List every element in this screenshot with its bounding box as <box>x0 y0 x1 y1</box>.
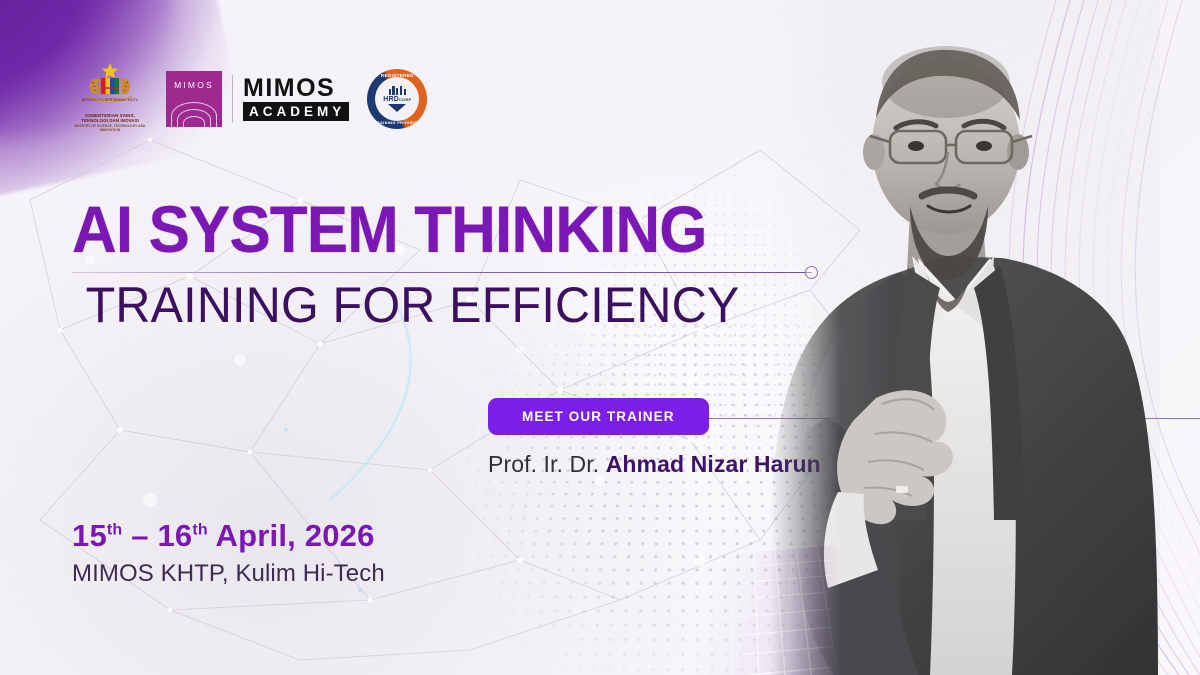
mimos-academy-logo: MIMOS MIMOS ACADEMY <box>166 71 349 127</box>
malaysia-coat-of-arms-icon: BERSEKUTU BERTAMBAH MUTU <box>79 60 141 112</box>
hrd-center-suffix: CORP <box>399 97 411 102</box>
ministry-line2: TEKNOLOGI DAN INOVASI <box>81 118 139 123</box>
hrd-corp-registered-seal: REGISTERED TRAINING PROVIDER HRDCORP <box>367 69 427 129</box>
mimos-word-top: MIMOS <box>243 77 349 101</box>
date-start: 15 <box>72 518 107 553</box>
ministry-line3: MINISTRY OF SCIENCE, TECHNOLOGY AND INNO… <box>68 124 152 132</box>
event-details-block: 15th – 16th April, 2026 MIMOS KHTP, Kuli… <box>72 518 385 588</box>
ministry-logo-text: KEMENTERIAN SAINS, TEKNOLOGI DAN INOVASI… <box>68 113 152 132</box>
headline-block: AI SYSTEM THINKING TRAINING FOR EFFICIEN… <box>72 196 832 332</box>
trainer-name-prefix: Prof. Ir. Dr. <box>488 451 606 477</box>
logo-divider <box>232 75 233 123</box>
mimos-arc-inner <box>183 116 205 127</box>
trainer-photo <box>770 0 1160 675</box>
event-date: 15th – 16th April, 2026 <box>72 518 385 554</box>
date-month-year: April, 2026 <box>208 518 375 553</box>
mimos-word-bottom: ACADEMY <box>243 102 349 121</box>
event-venue: MIMOS KHTP, Kulim Hi-Tech <box>72 560 385 588</box>
meet-our-trainer-badge: MEET OUR TRAINER <box>488 398 709 435</box>
page-subtitle: TRAINING FOR EFFICIENCY <box>72 279 809 332</box>
mimos-mark-text: MIMOS <box>174 80 214 90</box>
ministry-logo: BERSEKUTU BERTAMBAH MUTU KEMENTERIAN SAI… <box>72 60 148 138</box>
date-end: 16 <box>157 518 192 553</box>
date-end-ordinal: th <box>192 522 208 539</box>
hrd-bottom-text: TRAINING PROVIDER <box>367 120 427 125</box>
hrd-center-text: HRD <box>383 96 399 103</box>
page-title: AI SYSTEM THINKING <box>72 196 786 262</box>
date-dash: – <box>122 518 157 553</box>
hrd-center-label: HRDCORP <box>383 96 411 103</box>
ministry-line1: KEMENTERIAN SAINS, <box>85 113 135 118</box>
mimos-wordmark: MIMOS ACADEMY <box>243 77 349 122</box>
hrd-top-text: REGISTERED <box>367 73 427 78</box>
svg-text:BERSEKUTU BERTAMBAH MUTU: BERSEKUTU BERTAMBAH MUTU <box>82 98 139 102</box>
hrd-bars-icon <box>389 86 407 95</box>
event-banner: BERSEKUTU BERTAMBAH MUTU KEMENTERIAN SAI… <box>0 0 1200 675</box>
mimos-mark: MIMOS <box>166 71 222 127</box>
hrd-chevron-icon <box>388 104 406 112</box>
hrd-seal-inner: HRDCORP <box>375 77 419 121</box>
logo-row: BERSEKUTU BERTAMBAH MUTU KEMENTERIAN SAI… <box>72 60 427 138</box>
date-start-ordinal: th <box>107 522 123 539</box>
title-divider-rule <box>72 272 812 273</box>
trainer-portrait-illustration <box>770 0 1160 675</box>
